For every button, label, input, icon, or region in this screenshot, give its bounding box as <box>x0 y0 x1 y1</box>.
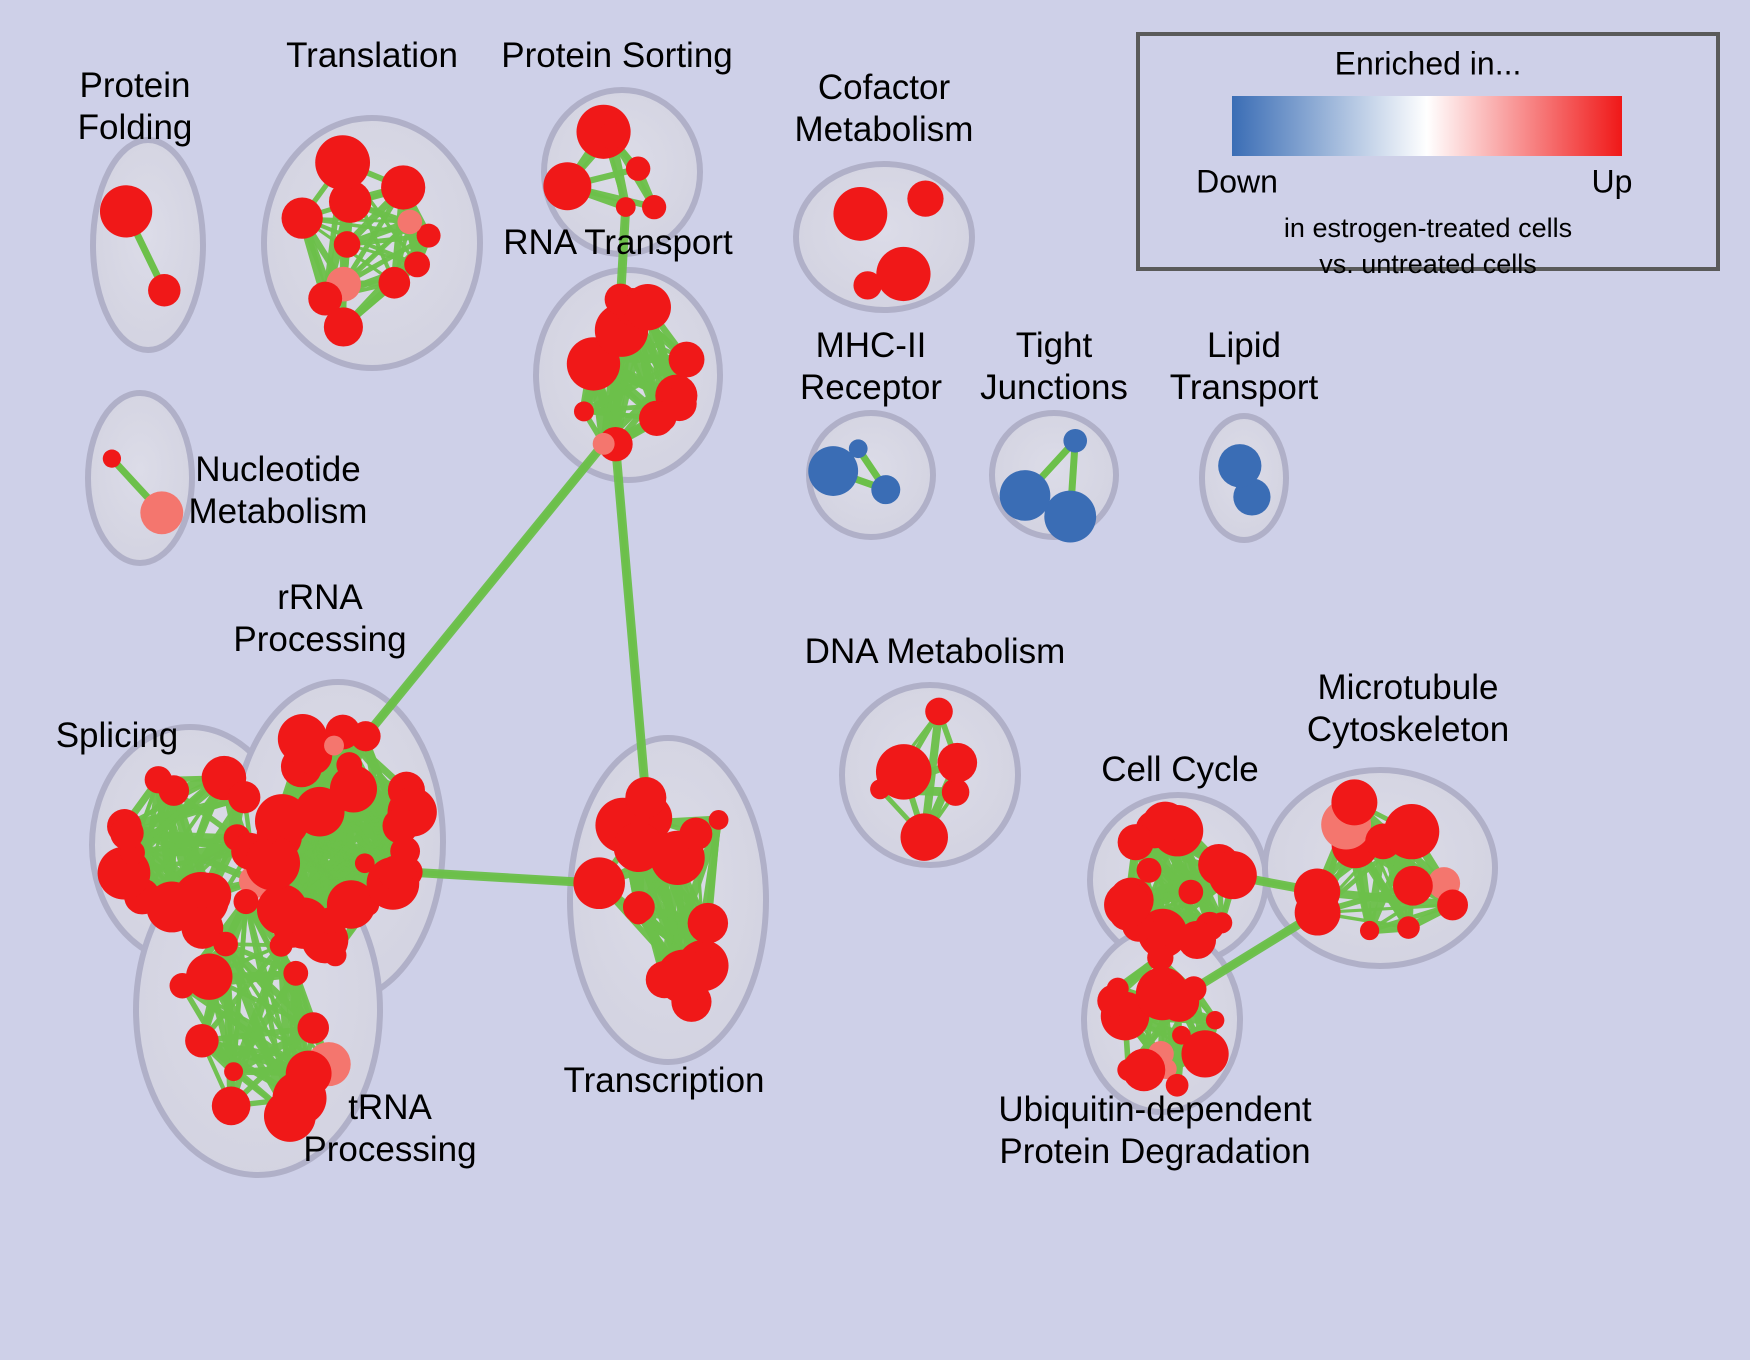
network-node[interactable] <box>1181 1030 1228 1077</box>
network-node[interactable] <box>212 1087 251 1126</box>
network-node[interactable] <box>324 736 344 756</box>
network-node[interactable] <box>186 953 232 999</box>
network-node[interactable] <box>543 162 591 210</box>
network-node[interactable] <box>315 135 370 190</box>
network-node[interactable] <box>245 836 300 891</box>
network-node[interactable] <box>146 882 197 933</box>
network-node[interactable] <box>282 197 323 238</box>
network-node[interactable] <box>283 961 308 986</box>
network-node[interactable] <box>1063 429 1087 453</box>
network-node[interactable] <box>148 274 180 306</box>
network-node[interactable] <box>1181 976 1206 1001</box>
network-node[interactable] <box>317 907 343 933</box>
network-node[interactable] <box>849 439 868 458</box>
legend-title: Enriched in... <box>1335 45 1522 81</box>
network-node[interactable] <box>688 903 728 943</box>
network-node[interactable] <box>1206 1011 1224 1029</box>
network-node[interactable] <box>1331 779 1377 825</box>
network-node[interactable] <box>871 475 900 504</box>
network-node[interactable] <box>1044 491 1096 543</box>
network-node[interactable] <box>1294 869 1340 915</box>
network-node[interactable] <box>1178 921 1216 959</box>
network-node[interactable] <box>1123 1049 1166 1092</box>
network-node[interactable] <box>709 810 729 830</box>
network-node[interactable] <box>598 123 624 149</box>
network-canvas: ProteinFoldingTranslationNucleotideMetab… <box>0 0 1750 1360</box>
cluster-halo-nucleotide-metabolism <box>88 393 192 563</box>
network-node[interactable] <box>1209 851 1257 899</box>
network-node[interactable] <box>170 973 195 998</box>
network-node[interactable] <box>100 185 152 237</box>
network-node[interactable] <box>145 766 172 793</box>
network-node[interactable] <box>625 777 666 818</box>
network-node[interactable] <box>1397 916 1420 939</box>
network-node[interactable] <box>213 932 238 957</box>
network-node[interactable] <box>334 231 361 258</box>
network-node[interactable] <box>876 247 930 301</box>
network-node[interactable] <box>623 891 655 923</box>
cluster-label-rna-transport: RNA Transport <box>503 223 733 262</box>
legend-caption-line-1: in estrogen-treated cells <box>1284 213 1572 243</box>
network-node[interactable] <box>853 271 881 299</box>
network-node[interactable] <box>286 1051 332 1097</box>
legend-gradient-bar <box>1232 96 1622 156</box>
network-node[interactable] <box>679 817 712 850</box>
cluster-label-transcription: Transcription <box>564 1061 765 1100</box>
cluster-label-dna-metabolism: DNA Metabolism <box>805 632 1066 671</box>
legend-caption-line-2: vs. untreated cells <box>1319 249 1537 279</box>
network-node[interactable] <box>942 778 970 806</box>
network-node[interactable] <box>228 781 260 813</box>
network-figure: ProteinFoldingTranslationNucleotideMetab… <box>0 0 1750 1360</box>
network-node[interactable] <box>1000 470 1051 521</box>
network-node[interactable] <box>1179 880 1204 905</box>
network-node[interactable] <box>103 450 121 468</box>
network-node[interactable] <box>662 386 697 421</box>
legend-up-label: Up <box>1592 163 1633 199</box>
network-node[interactable] <box>1147 945 1173 971</box>
network-node[interactable] <box>642 195 666 219</box>
network-node[interactable] <box>262 820 283 841</box>
network-node[interactable] <box>297 1012 329 1044</box>
cluster-label-splicing: Splicing <box>56 716 179 755</box>
network-node[interactable] <box>669 342 705 378</box>
network-node[interactable] <box>616 197 636 217</box>
network-node[interactable] <box>234 889 259 914</box>
network-node[interactable] <box>625 284 671 330</box>
network-node[interactable] <box>626 157 650 181</box>
network-node[interactable] <box>876 744 932 800</box>
network-node[interactable] <box>397 210 422 235</box>
network-node[interactable] <box>937 743 977 783</box>
network-node[interactable] <box>185 1024 219 1058</box>
network-node[interactable] <box>1384 804 1439 859</box>
network-node[interactable] <box>907 181 943 217</box>
network-node[interactable] <box>833 187 887 241</box>
network-node[interactable] <box>140 491 183 534</box>
network-node[interactable] <box>1104 882 1150 928</box>
cluster-label-translation: Translation <box>286 36 458 75</box>
network-node[interactable] <box>573 857 625 909</box>
network-node[interactable] <box>1137 858 1162 883</box>
legend: Enriched in... Down Up in estrogen-treat… <box>1138 34 1718 279</box>
network-node[interactable] <box>646 961 683 998</box>
network-node[interactable] <box>381 165 425 209</box>
network-node[interactable] <box>1393 866 1433 906</box>
network-node[interactable] <box>1118 824 1154 860</box>
cluster-label-protein-sorting: Protein Sorting <box>501 36 733 75</box>
network-node[interactable] <box>593 433 615 455</box>
network-node[interactable] <box>308 282 342 316</box>
network-node[interactable] <box>1437 890 1468 921</box>
network-node[interactable] <box>270 934 293 957</box>
network-node[interactable] <box>390 836 420 866</box>
network-node[interactable] <box>1360 921 1379 940</box>
network-node[interactable] <box>257 884 307 934</box>
network-node[interactable] <box>224 1062 243 1081</box>
network-node[interactable] <box>330 765 377 812</box>
network-node[interactable] <box>574 401 594 421</box>
network-node[interactable] <box>1218 444 1261 487</box>
network-node[interactable] <box>1097 985 1129 1017</box>
cluster-label-cell-cycle: Cell Cycle <box>1101 750 1259 789</box>
network-node[interactable] <box>404 252 430 278</box>
network-node[interactable] <box>202 760 235 793</box>
legend-down-label: Down <box>1196 163 1278 199</box>
network-node[interactable] <box>925 698 953 726</box>
network-node[interactable] <box>1211 912 1232 933</box>
cluster-halo-protein-folding <box>93 140 203 350</box>
network-node[interactable] <box>901 813 948 860</box>
network-node[interactable] <box>110 816 143 849</box>
network-node[interactable] <box>1164 809 1196 841</box>
network-node[interactable] <box>378 267 410 299</box>
